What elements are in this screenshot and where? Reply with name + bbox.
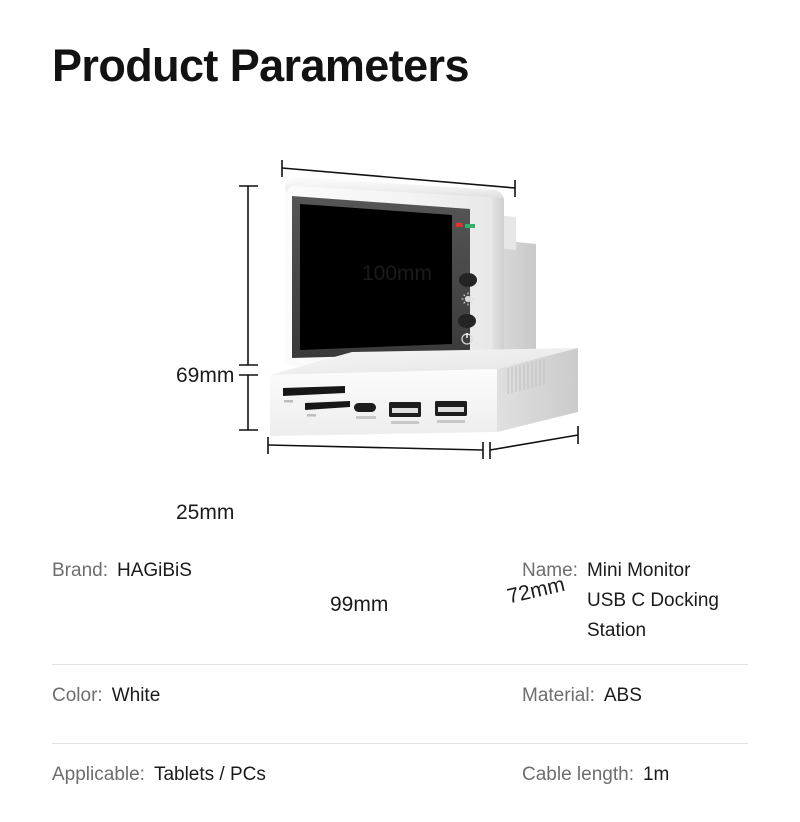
table-row: Color: White Material: ABS xyxy=(52,664,748,743)
spec-value-name: Mini Monitor USB C Docking Station xyxy=(587,556,748,646)
spec-key-name: Name: xyxy=(522,556,578,586)
led-green-indicator xyxy=(465,224,475,228)
usb-a-port-2-tongue xyxy=(438,407,464,412)
microsd-slot-label xyxy=(307,414,316,417)
spec-cell-cable-length: Cable length: 1m xyxy=(522,760,748,790)
led-red-indicator xyxy=(456,223,463,227)
product-illustration xyxy=(0,120,800,520)
page-title: Product Parameters xyxy=(52,43,469,88)
specification-table: Brand: HAGiBiS Name: Mini Monitor USB C … xyxy=(52,540,748,822)
spec-value-applicable: Tablets / PCs xyxy=(154,760,266,790)
power-button[interactable] xyxy=(458,314,476,328)
usb-a-port-1-label xyxy=(391,421,419,424)
spec-value-material: ABS xyxy=(604,681,642,711)
product-image: 100mm 69mm 25mm 99mm 72mm xyxy=(0,120,800,520)
spec-cell-brand: Brand: HAGiBiS xyxy=(52,556,522,586)
usb-a-port-2-label xyxy=(437,420,465,423)
brightness-button[interactable] xyxy=(459,273,477,287)
table-row: Brand: HAGiBiS Name: Mini Monitor USB C … xyxy=(52,540,748,664)
spec-key-applicable: Applicable: xyxy=(52,760,145,790)
spec-cell-color: Color: White xyxy=(52,681,522,711)
spec-key-color: Color: xyxy=(52,681,103,711)
spec-cell-applicable: Applicable: Tablets / PCs xyxy=(52,760,522,790)
usb-c-port[interactable] xyxy=(354,403,376,412)
table-row: Applicable: Tablets / PCs Cable length: … xyxy=(52,743,748,822)
usb-c-port-label xyxy=(356,416,376,419)
spec-key-cable-length: Cable length: xyxy=(522,760,634,790)
spec-cell-name: Name: Mini Monitor USB C Docking Station xyxy=(522,556,748,646)
dimension-label-monitor-height: 69mm xyxy=(176,364,234,388)
spec-key-brand: Brand: xyxy=(52,556,108,586)
dimension-label-monitor-width: 100mm xyxy=(362,262,432,286)
spec-value-cable-length: 1m xyxy=(643,760,669,790)
monitor-right-face xyxy=(492,190,504,360)
usb-a-port-1-tongue xyxy=(392,408,418,413)
spec-value-brand: HAGiBiS xyxy=(117,556,192,586)
dimension-label-dock-height: 25mm xyxy=(176,501,234,525)
spec-cell-material: Material: ABS xyxy=(522,681,748,711)
spec-key-material: Material: xyxy=(522,681,595,711)
spec-value-color: White xyxy=(112,681,161,711)
sd-slot-label xyxy=(284,400,293,403)
